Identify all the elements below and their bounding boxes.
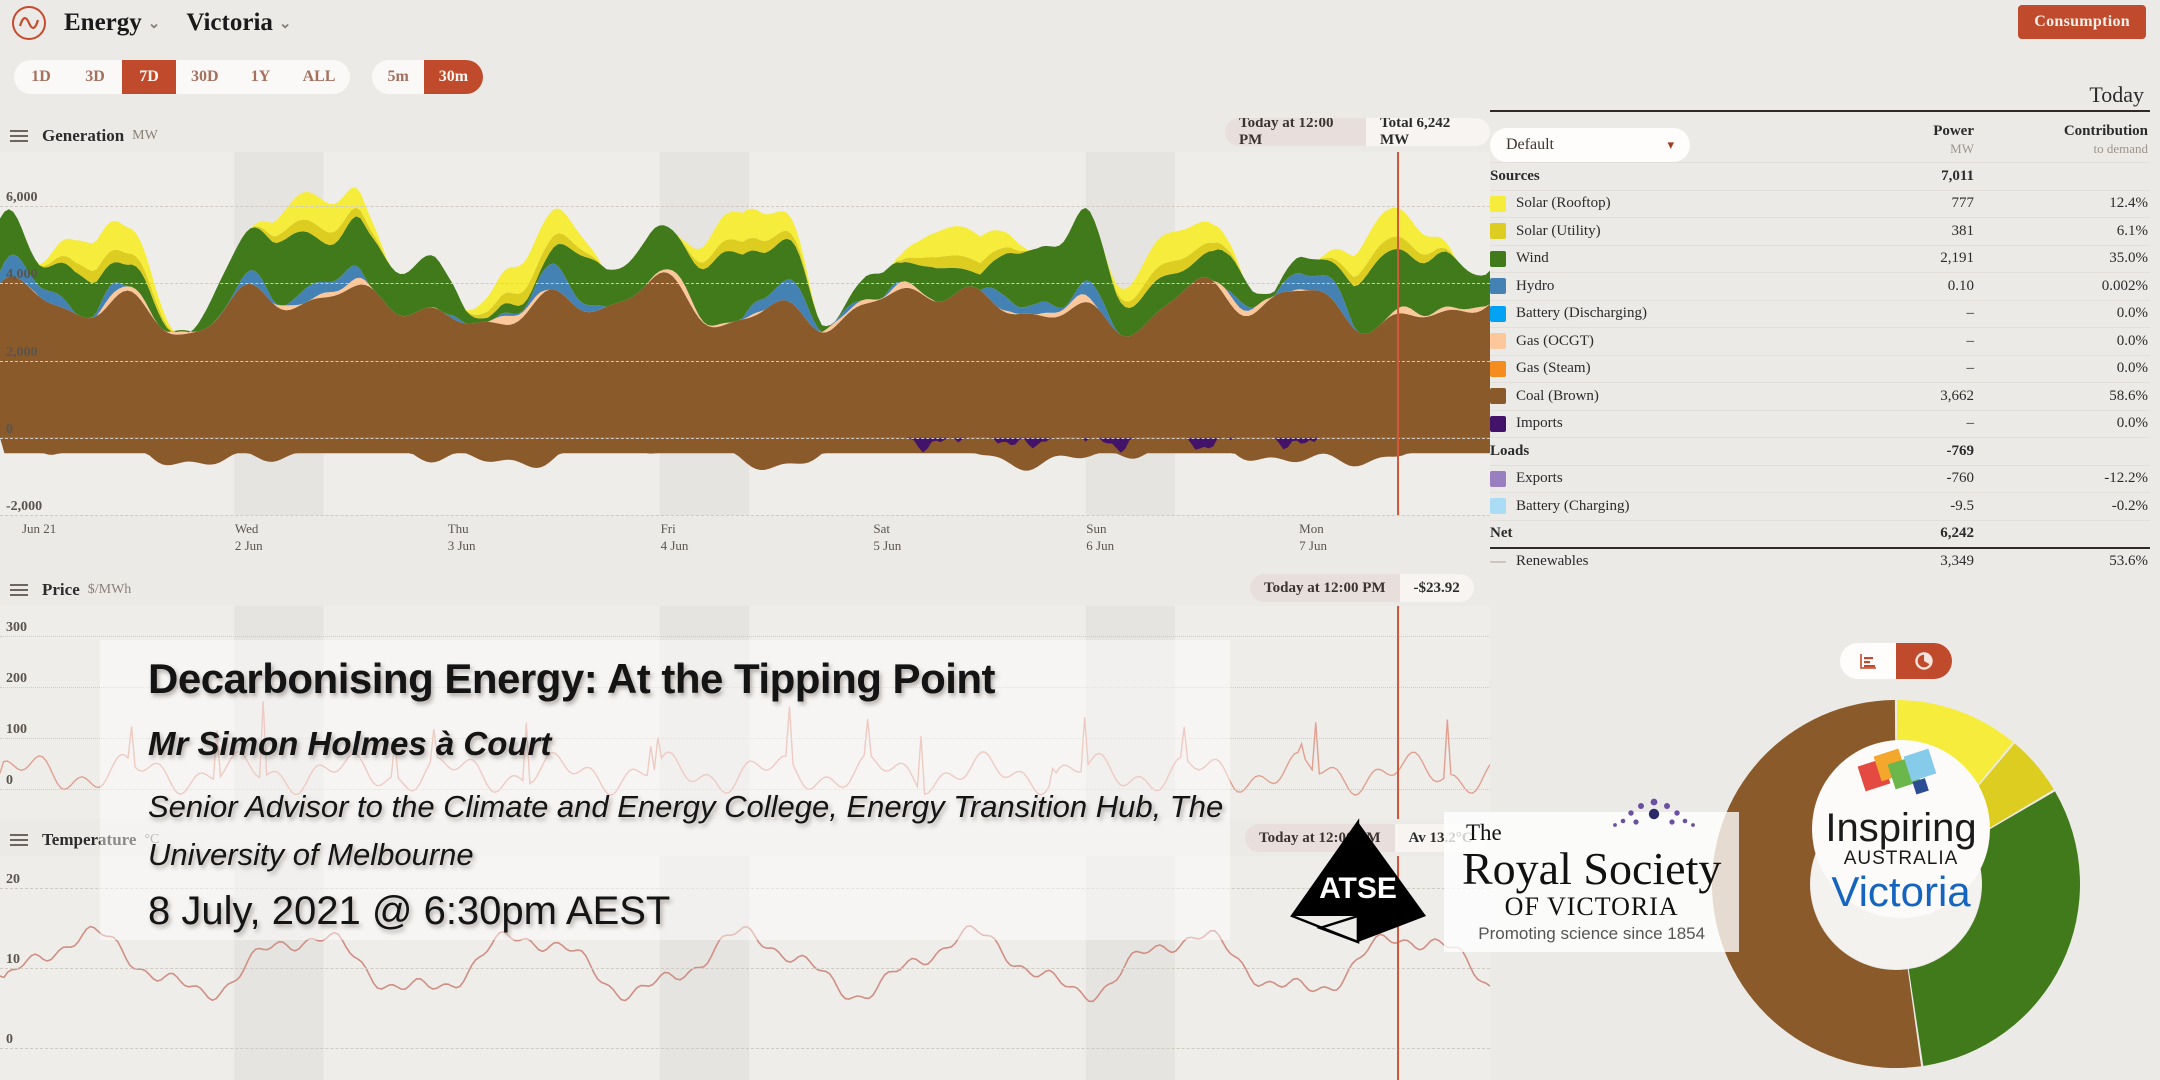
table-row-power: -9.5 bbox=[1950, 498, 1974, 515]
x-tick-bottom: 5 Jun bbox=[873, 538, 901, 553]
table-row[interactable]: Solar (Rooftop)77712.4% bbox=[1490, 190, 2150, 218]
table-row-label: Renewables bbox=[1516, 553, 2150, 570]
series-color-swatch bbox=[1490, 361, 1506, 377]
gridline bbox=[0, 515, 1490, 516]
price-panel: Price $/MWh Today at 12:00 PM -$23.92 bbox=[0, 578, 1490, 602]
chevron-down-icon: ⌄ bbox=[148, 14, 161, 33]
table-row-contribution: 0.0% bbox=[2117, 305, 2148, 322]
table-today-label: Today bbox=[2089, 82, 2144, 108]
generation-x-axis: Jun 21Wed2 JunThu3 JunFri4 JunSat5 JunSu… bbox=[0, 520, 1490, 570]
generation-title: Generation bbox=[42, 126, 124, 146]
gridline bbox=[0, 206, 1490, 207]
generation-plot[interactable]: 6,0004,0002,0000-2,000 bbox=[0, 152, 1490, 515]
price-y-tick: 300 bbox=[6, 620, 27, 636]
gridline bbox=[0, 968, 1490, 969]
table-row-label: Solar (Rooftop) bbox=[1516, 195, 2150, 212]
table-row-power: 2,191 bbox=[1940, 250, 1974, 267]
event-datetime: 8 July, 2021 @ 6:30pm AEST bbox=[148, 889, 1248, 934]
renewables-line-icon bbox=[1490, 561, 1506, 563]
table-row-label: Wind bbox=[1516, 250, 2150, 267]
region-label: Victoria bbox=[186, 9, 273, 37]
generation-tooltip-time: Today at 12:00 PM bbox=[1225, 118, 1366, 146]
interval-group: 5m 30m bbox=[372, 60, 483, 94]
generation-x-tick: Sat5 Jun bbox=[873, 520, 901, 554]
opennem-wave-icon[interactable] bbox=[12, 6, 46, 40]
top-bar: Energy ⌄ Victoria ⌄ Consumption bbox=[0, 0, 2160, 46]
gridline bbox=[0, 636, 1490, 637]
generation-x-tick: Sun6 Jun bbox=[1086, 520, 1114, 554]
table-row-label: Imports bbox=[1516, 415, 2150, 432]
table-row-contribution: 53.6% bbox=[2109, 553, 2148, 570]
table-row[interactable]: Battery (Discharging)–0.0% bbox=[1490, 300, 2150, 328]
rsv-name: Royal Society bbox=[1462, 846, 1721, 892]
period-30d[interactable]: 30D bbox=[176, 60, 234, 94]
table-row-contribution: 0.0% bbox=[2117, 415, 2148, 432]
ia-inspiring: Inspiring bbox=[1825, 808, 1976, 848]
column-header-power: Power MW bbox=[1933, 122, 1974, 158]
generation-x-tick: Mon7 Jun bbox=[1299, 520, 1327, 554]
range-selectors: 1D 3D 7D 30D 1Y ALL 5m 30m bbox=[14, 60, 483, 94]
series-color-swatch bbox=[1490, 251, 1506, 267]
atse-logo: ATSE bbox=[1272, 812, 1444, 952]
table-row-contribution: -12.2% bbox=[2104, 470, 2148, 487]
price-y-tick: 100 bbox=[6, 722, 27, 738]
price-tooltip: Today at 12:00 PM -$23.92 bbox=[1250, 574, 1474, 602]
royal-society-logo: The Royal Society OF VICTORIA Promoting … bbox=[1444, 812, 1739, 952]
x-tick-top: Wed bbox=[235, 521, 259, 536]
column-header-contribution-unit: to demand bbox=[2064, 140, 2148, 158]
x-tick-bottom: 7 Jun bbox=[1299, 538, 1327, 553]
generation-unit: MW bbox=[132, 128, 158, 144]
table-row-label: Loads bbox=[1490, 443, 2150, 460]
price-y-tick: 200 bbox=[6, 671, 27, 687]
x-tick-top: Thu bbox=[448, 521, 469, 536]
ia-australia: AUSTRALIA bbox=[1825, 848, 1976, 870]
x-tick-top: Jun 21 bbox=[22, 521, 56, 536]
ia-victoria: Victoria bbox=[1825, 870, 1976, 914]
consumption-button[interactable]: Consumption bbox=[2018, 5, 2146, 39]
table-row-contribution: 12.4% bbox=[2109, 195, 2148, 212]
column-header-contribution-label: Contribution bbox=[2064, 123, 2148, 139]
table-row-label: Battery (Charging) bbox=[1516, 498, 2150, 515]
generation-y-tick: 6,000 bbox=[6, 190, 38, 206]
generation-x-tick: Jun 21 bbox=[22, 520, 56, 537]
table-row-power: 777 bbox=[1952, 195, 1975, 212]
current-time-line bbox=[1397, 606, 1399, 819]
table-row: Sources7,011 bbox=[1490, 162, 2150, 190]
generation-x-tick: Wed2 Jun bbox=[235, 520, 263, 554]
table-row-label: Battery (Discharging) bbox=[1516, 305, 2150, 322]
table-row-label: Gas (Steam) bbox=[1516, 360, 2150, 377]
table-row-contribution: 35.0% bbox=[2109, 250, 2148, 267]
x-tick-top: Mon bbox=[1299, 521, 1324, 536]
brand-energy-menu[interactable]: Energy ⌄ bbox=[64, 9, 160, 37]
table-row-contribution: 0.002% bbox=[2102, 278, 2148, 295]
series-color-swatch bbox=[1490, 278, 1506, 294]
table-row[interactable]: Exports-760-12.2% bbox=[1490, 465, 2150, 493]
table-row[interactable]: Gas (OCGT)–0.0% bbox=[1490, 327, 2150, 355]
series-color-swatch bbox=[1490, 196, 1506, 212]
table-row-power: -769 bbox=[1947, 443, 1975, 460]
opennem-dashboard: Energy ⌄ Victoria ⌄ Consumption 1D 3D 7D… bbox=[0, 0, 2160, 1080]
table-row[interactable]: Imports–0.0% bbox=[1490, 410, 2150, 438]
chevron-down-icon: ⌄ bbox=[279, 14, 292, 33]
generation-x-tick: Thu3 Jun bbox=[448, 520, 476, 554]
table-row[interactable]: Wind2,19135.0% bbox=[1490, 245, 2150, 273]
period-all[interactable]: ALL bbox=[288, 60, 351, 94]
table-row-power: – bbox=[1967, 415, 1975, 432]
generation-y-tick: 4,000 bbox=[6, 267, 38, 283]
series-color-swatch bbox=[1490, 416, 1506, 432]
generation-table-panel: Today Default ▾ Power MW Contribution to… bbox=[1490, 110, 2150, 575]
series-color-swatch bbox=[1490, 388, 1506, 404]
table-row-contribution: 6.1% bbox=[2117, 223, 2148, 240]
series-color-swatch bbox=[1490, 223, 1506, 239]
view-select-value: Default bbox=[1506, 136, 1554, 154]
temperature-y-tick: 10 bbox=[6, 952, 20, 968]
generation-table-body: Sources7,011Solar (Rooftop)77712.4%Solar… bbox=[1490, 162, 2150, 575]
event-title: Decarbonising Energy: At the Tipping Poi… bbox=[148, 655, 1248, 703]
generation-y-tick: 2,000 bbox=[6, 345, 38, 361]
table-row-label: Exports bbox=[1516, 470, 2150, 487]
gridline bbox=[0, 361, 1490, 362]
table-row-label: Gas (OCGT) bbox=[1516, 333, 2150, 350]
rsv-of-victoria: OF VICTORIA bbox=[1462, 892, 1721, 922]
generation-y-tick: -2,000 bbox=[6, 499, 42, 515]
interval-5m[interactable]: 5m bbox=[372, 60, 423, 94]
region-victoria-menu[interactable]: Victoria ⌄ bbox=[186, 9, 291, 37]
price-unit: $/MWh bbox=[88, 582, 132, 598]
generation-y-tick: 0 bbox=[6, 422, 13, 438]
table-header-row: Default ▾ Power MW Contribution to deman… bbox=[1490, 112, 2150, 162]
price-y-tick: 0 bbox=[6, 773, 13, 789]
table-row-label: Sources bbox=[1490, 168, 2150, 185]
table-row[interactable]: Coal (Brown)3,66258.6% bbox=[1490, 382, 2150, 410]
current-time-line bbox=[1397, 152, 1399, 515]
table-row-contribution: 0.0% bbox=[2117, 333, 2148, 350]
menu-icon[interactable] bbox=[10, 581, 28, 599]
view-select[interactable]: Default ▾ bbox=[1490, 128, 1690, 162]
table-row: Renewables3,34953.6% bbox=[1490, 547, 2150, 575]
event-speaker-role: Senior Advisor to the Climate and Energy… bbox=[148, 783, 1248, 879]
interval-30m[interactable]: 30m bbox=[424, 60, 483, 94]
table-row: Loads-769 bbox=[1490, 437, 2150, 465]
generation-x-tick: Fri4 Jun bbox=[661, 520, 689, 554]
logo-strip: ATSE The Royal Society OF VICTORIA bbox=[1272, 812, 1739, 952]
table-row-power: 3,349 bbox=[1940, 553, 1974, 570]
table-row: Net6,242 bbox=[1490, 520, 2150, 548]
menu-icon[interactable] bbox=[10, 831, 28, 849]
table-row[interactable]: Hydro0.100.002% bbox=[1490, 272, 2150, 300]
table-row-label: Solar (Utility) bbox=[1516, 223, 2150, 240]
table-row-power: 3,662 bbox=[1940, 388, 1974, 405]
table-row-label: Coal (Brown) bbox=[1516, 388, 2150, 405]
bar-chart-icon[interactable] bbox=[1840, 643, 1896, 679]
x-tick-top: Sat bbox=[873, 521, 890, 536]
series-color-swatch bbox=[1490, 471, 1506, 487]
x-tick-top: Sun bbox=[1086, 521, 1106, 536]
series-color-swatch bbox=[1490, 306, 1506, 322]
brand-energy-label: Energy bbox=[64, 9, 142, 37]
column-header-contribution: Contribution to demand bbox=[2064, 122, 2148, 158]
table-row-power: 6,242 bbox=[1940, 525, 1974, 542]
svg-text:ATSE: ATSE bbox=[1319, 872, 1397, 905]
series-color-swatch bbox=[1490, 333, 1506, 349]
event-speaker: Mr Simon Holmes à Court bbox=[148, 725, 1248, 763]
table-row-label: Net bbox=[1490, 525, 2150, 542]
pie-chart-icon[interactable] bbox=[1896, 643, 1952, 679]
x-tick-bottom: 3 Jun bbox=[448, 538, 476, 553]
period-1d[interactable]: 1D bbox=[14, 60, 68, 94]
x-tick-bottom: 4 Jun bbox=[661, 538, 689, 553]
temperature-y-tick: 0 bbox=[6, 1032, 13, 1048]
table-row-power: – bbox=[1967, 360, 1975, 377]
gridline bbox=[0, 1048, 1490, 1049]
temperature-y-tick: 20 bbox=[6, 872, 20, 888]
generation-tooltip: Today at 12:00 PM Total 6,242 MW bbox=[1225, 118, 1490, 146]
period-group: 1D 3D 7D 30D 1Y ALL bbox=[14, 60, 350, 94]
column-header-power-unit: MW bbox=[1933, 140, 1974, 158]
table-row-power: – bbox=[1967, 333, 1975, 350]
generation-panel: Generation MW Today at 12:00 PM Total 6,… bbox=[0, 124, 1490, 148]
chart-type-toggle bbox=[1840, 643, 1952, 679]
table-row-contribution: 58.6% bbox=[2109, 388, 2148, 405]
table-row-contribution: -0.2% bbox=[2112, 498, 2148, 515]
gridline bbox=[0, 283, 1490, 284]
column-header-power-label: Power bbox=[1933, 123, 1974, 139]
table-row-power: 7,011 bbox=[1941, 168, 1974, 185]
chevron-down-icon: ▾ bbox=[1667, 137, 1674, 153]
price-tooltip-value: -$23.92 bbox=[1400, 574, 1474, 602]
table-row-contribution: 0.0% bbox=[2117, 360, 2148, 377]
table-row[interactable]: Solar (Utility)3816.1% bbox=[1490, 217, 2150, 245]
period-7d[interactable]: 7D bbox=[122, 60, 176, 94]
table-row-power: 0.10 bbox=[1948, 278, 1974, 295]
table-row-power: – bbox=[1967, 305, 1975, 322]
menu-icon[interactable] bbox=[10, 127, 28, 145]
generation-tooltip-value: Total 6,242 MW bbox=[1366, 118, 1490, 146]
x-tick-bottom: 2 Jun bbox=[235, 538, 263, 553]
table-row[interactable]: Gas (Steam)–0.0% bbox=[1490, 355, 2150, 383]
series-color-swatch bbox=[1490, 498, 1506, 514]
table-row-label: Hydro bbox=[1516, 278, 2150, 295]
table-row-power: 381 bbox=[1952, 223, 1975, 240]
period-3d[interactable]: 3D bbox=[68, 60, 122, 94]
x-tick-top: Fri bbox=[661, 521, 676, 536]
period-1y[interactable]: 1Y bbox=[234, 60, 288, 94]
gridline bbox=[0, 438, 1490, 439]
rsv-tagline: Promoting science since 1854 bbox=[1462, 924, 1721, 944]
inspiring-australia-logo: Inspiring AUSTRALIA Victoria bbox=[1812, 740, 1990, 918]
x-tick-bottom: 6 Jun bbox=[1086, 538, 1114, 553]
price-title: Price bbox=[42, 580, 80, 600]
table-row[interactable]: Battery (Charging)-9.5-0.2% bbox=[1490, 492, 2150, 520]
price-tooltip-time: Today at 12:00 PM bbox=[1250, 574, 1400, 602]
title-overlay: Decarbonising Energy: At the Tipping Poi… bbox=[148, 655, 1248, 934]
table-row-power: -760 bbox=[1947, 470, 1975, 487]
